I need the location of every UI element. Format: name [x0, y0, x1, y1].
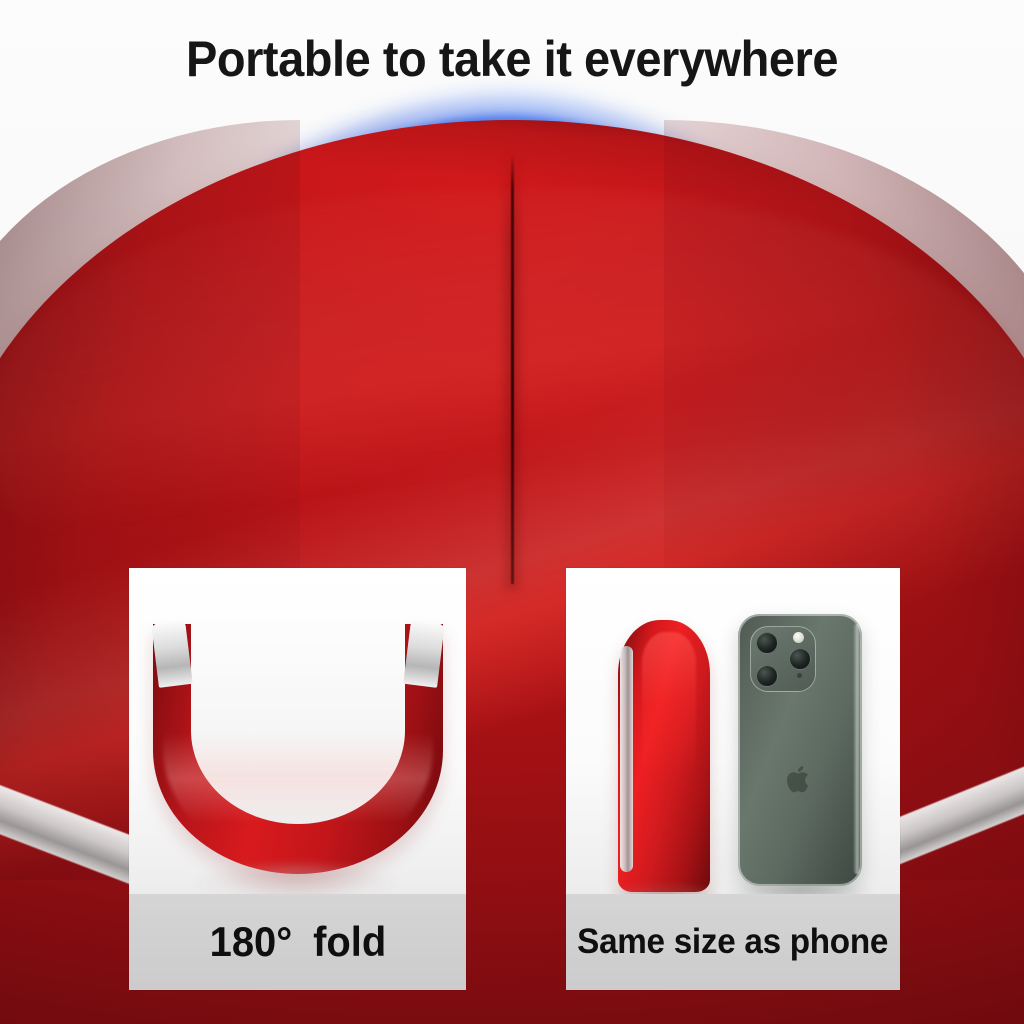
smartphone [738, 614, 862, 886]
device-gloss-face [642, 632, 696, 782]
phone-edge-highlight [853, 624, 860, 874]
degree-icon: ° [276, 918, 292, 965]
camera-flash-icon [793, 632, 804, 643]
fold-panel: 180°fold [129, 568, 466, 990]
u-gloss-highlight [163, 638, 433, 864]
size-panel: Same size as phone [566, 568, 900, 990]
product-marketing-image: Portable to take it everywhere [0, 0, 1024, 1024]
apple-logo-icon [785, 762, 815, 796]
fold-panel-image [129, 568, 466, 894]
size-panel-caption: Same size as phone [566, 894, 900, 990]
arch-hinge-seam [511, 154, 514, 584]
fold-caption-text: 180°fold [209, 918, 386, 966]
camera-lens-icon [756, 665, 778, 687]
page-title: Portable to take it everywhere [31, 30, 994, 88]
size-caption-text: Same size as phone [578, 922, 889, 962]
fold-panel-caption: 180°fold [129, 894, 466, 990]
folded-device-u-shape [153, 624, 443, 874]
folded-red-device [618, 620, 710, 892]
fold-caption-number: 180 [209, 918, 276, 965]
camera-bump [750, 626, 816, 692]
camera-lens-icon [756, 632, 778, 654]
device-chrome-edge [620, 646, 633, 872]
microphone-icon [797, 673, 802, 678]
fold-caption-word: fold [313, 918, 386, 965]
camera-lens-icon [789, 648, 811, 670]
